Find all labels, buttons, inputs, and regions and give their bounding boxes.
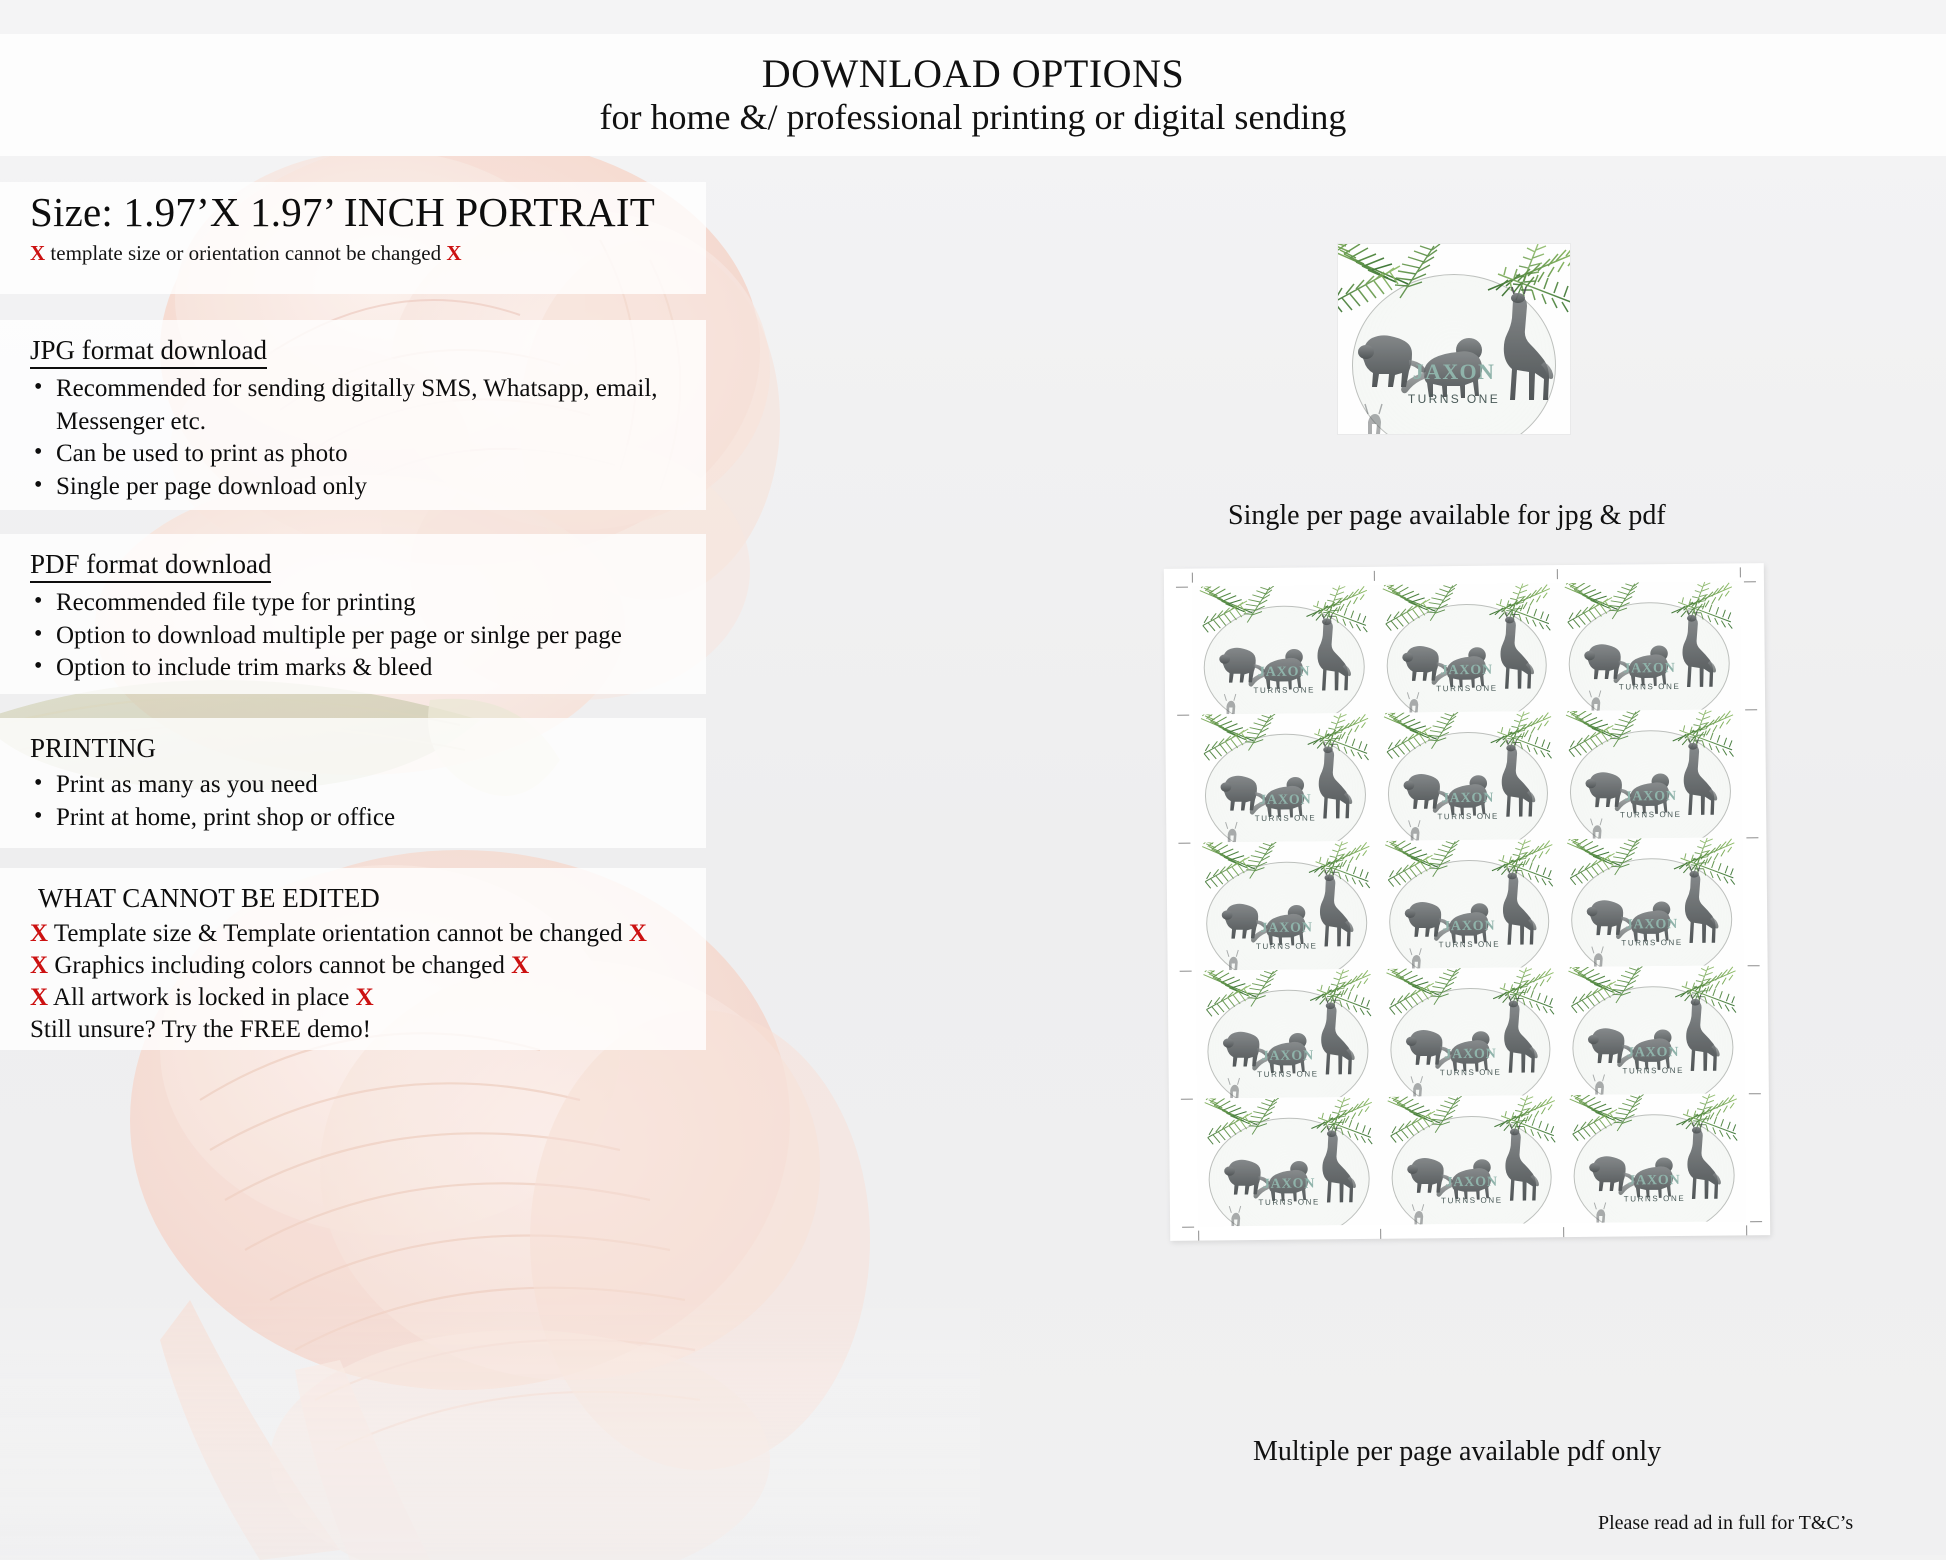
x-mark-icon: X	[356, 984, 374, 1011]
sticker-artwork: JAXON TURNS ONE	[1338, 244, 1570, 434]
x-mark-icon: X	[446, 241, 461, 265]
sticker-cell: JAXON TURNS ONE	[1560, 837, 1744, 967]
sticker-subtitle: TURNS ONE	[1198, 1197, 1381, 1208]
sticker-artwork: JAXON TURNS ONE	[1377, 839, 1561, 969]
sticker-artwork: JAXON TURNS ONE	[1192, 585, 1376, 715]
locked-line: X All artwork is locked in place X	[30, 982, 676, 1014]
x-mark-icon: X	[30, 241, 45, 265]
sticker-artwork: JAXON TURNS ONE	[1557, 581, 1741, 711]
size-note: X template size or orientation cannot be…	[30, 241, 676, 266]
sticker-artwork: JAXON TURNS ONE	[1559, 709, 1743, 839]
sticker-name: JAXON	[1378, 918, 1561, 936]
sticker-subtitle: TURNS ONE	[1561, 937, 1744, 948]
sticker-name: JAXON	[1558, 660, 1741, 678]
trim-mark	[1748, 965, 1760, 966]
trim-mark	[1563, 1227, 1564, 1237]
pdf-section-title: PDF format download	[30, 548, 271, 583]
sticker-cell: JAXON TURNS ONE	[1192, 585, 1376, 715]
sticker-subtitle: TURNS ONE	[1378, 939, 1561, 950]
sticker-name: JAXON	[1193, 664, 1376, 682]
list-item: Print at home, print shop or office	[30, 802, 676, 835]
x-mark-icon: X	[30, 920, 48, 947]
sticker-subtitle: TURNS ONE	[1194, 813, 1377, 824]
printing-section-title: PRINTING	[30, 732, 156, 765]
sticker-cell: JAXON TURNS ONE	[1376, 711, 1560, 841]
sticker-name: JAXON	[1196, 1048, 1379, 1066]
list-item: Print as many as you need	[30, 769, 676, 802]
sticker-illustration	[1338, 244, 1570, 434]
x-mark-icon: X	[511, 952, 529, 979]
trim-mark	[1380, 1229, 1381, 1239]
printing-bullet-list: Print as many as you need Print at home,…	[30, 769, 676, 834]
multiple-per-page-sheet: JAXON TURNS ONE	[1164, 563, 1770, 1241]
trim-mark	[1374, 571, 1375, 581]
locked-line: X Template size & Template orientation c…	[30, 918, 676, 950]
locked-footer: Still unsure? Try the FREE demo!	[30, 1014, 676, 1046]
trim-mark	[1198, 1231, 1199, 1241]
sticker-artwork: JAXON TURNS ONE	[1562, 1093, 1746, 1223]
sticker-name: JAXON	[1194, 792, 1377, 810]
sticker-name: JAXON	[1560, 916, 1743, 934]
list-item: Recommended for sending digitally SMS, W…	[30, 373, 676, 406]
trim-mark	[1191, 573, 1192, 583]
multiple-preview-caption: Multiple per page available pdf only	[1253, 1436, 1661, 1468]
trim-mark	[1739, 567, 1740, 577]
sticker-name: JAXON	[1379, 1046, 1562, 1064]
sticker-artwork: JAXON TURNS ONE	[1378, 967, 1562, 1097]
page-canvas: DOWNLOAD OPTIONS for home &/ professiona…	[0, 0, 1946, 1555]
page-header: DOWNLOAD OPTIONS for home &/ professiona…	[0, 34, 1946, 156]
jpg-format-panel: JPG format download Recommended for send…	[0, 320, 706, 510]
single-preview-caption: Single per page available for jpg & pdf	[1228, 500, 1666, 532]
sticker-cell: JAXON TURNS ONE	[1196, 969, 1380, 1099]
page-title: DOWNLOAD OPTIONS	[762, 52, 1184, 95]
sticker-name: JAXON	[1377, 790, 1560, 808]
list-item: Messenger etc.	[30, 406, 676, 439]
sticker-artwork: JAXON TURNS ONE	[1193, 713, 1377, 843]
list-item: Can be used to print as photo	[30, 438, 676, 471]
sticker-subtitle: TURNS ONE	[1562, 1065, 1745, 1076]
x-mark-icon: X	[30, 952, 48, 979]
sticker-subtitle: TURNS ONE	[1563, 1193, 1746, 1204]
sticker-subtitle: TURNS ONE	[1559, 809, 1742, 820]
size-panel: Size: 1.97’X 1.97’ INCH PORTRAIT X templ…	[0, 182, 706, 294]
list-item: Option to include trim marks & bleed	[30, 652, 676, 685]
sticker-artwork: JAXON TURNS ONE	[1376, 711, 1560, 841]
sticker-artwork: JAXON TURNS ONE	[1194, 841, 1378, 971]
sticker-cell: JAXON TURNS ONE	[1380, 1095, 1564, 1225]
trim-mark	[1746, 1225, 1747, 1235]
trim-mark	[1745, 709, 1757, 710]
sticker-subtitle: TURNS ONE	[1558, 681, 1741, 692]
sticker-cell: JAXON TURNS ONE	[1194, 841, 1378, 971]
single-sticker-preview: JAXON TURNS ONE	[1338, 244, 1570, 434]
sticker-subtitle: TURNS ONE	[1197, 1069, 1380, 1080]
sticker-artwork: JAXON TURNS ONE	[1375, 583, 1559, 713]
sticker-cell: JAXON TURNS ONE	[1557, 581, 1741, 711]
page-subtitle: for home &/ professional printing or dig…	[600, 97, 1347, 138]
list-item: Recommended file type for printing	[30, 587, 676, 620]
locked-section-title: WHAT CANNOT BE EDITED	[30, 882, 676, 916]
list-item: Single per page download only	[30, 471, 676, 504]
sticker-subtitle: TURNS ONE	[1380, 1195, 1563, 1206]
cannot-be-edited-panel: WHAT CANNOT BE EDITED X Template size & …	[0, 868, 706, 1050]
sticker-cell: JAXON TURNS ONE	[1562, 1093, 1746, 1223]
sticker-subtitle: TURNS ONE	[1379, 1067, 1562, 1078]
trim-mark	[1750, 1221, 1762, 1222]
sticker-cell: JAXON TURNS ONE	[1561, 965, 1745, 1095]
sticker-cell: JAXON TURNS ONE	[1193, 713, 1377, 843]
sticker-name: JAXON	[1380, 1174, 1563, 1192]
pdf-bullet-list: Recommended file type for printing Optio…	[30, 587, 676, 685]
sticker-name: JAXON	[1559, 788, 1742, 806]
sticker-subtitle: TURNS ONE	[1338, 392, 1570, 406]
sticker-subtitle: TURNS ONE	[1376, 683, 1559, 694]
trim-mark	[1178, 842, 1190, 843]
sticker-subtitle: TURNS ONE	[1193, 685, 1376, 696]
locked-line: X Graphics including colors cannot be ch…	[30, 950, 676, 982]
sticker-cell: JAXON TURNS ONE	[1197, 1097, 1381, 1227]
trim-mark	[1557, 569, 1558, 579]
trim-mark	[1180, 970, 1192, 971]
printing-panel: PRINTING Print as many as you need Print…	[0, 718, 706, 848]
sticker-artwork: JAXON TURNS ONE	[1561, 965, 1745, 1095]
sticker-grid: JAXON TURNS ONE	[1192, 581, 1746, 1226]
trim-mark	[1744, 581, 1756, 582]
sticker-cell: JAXON TURNS ONE	[1375, 583, 1559, 713]
x-mark-icon: X	[30, 984, 48, 1011]
size-note-text: template size or orientation cannot be c…	[45, 241, 446, 265]
trim-mark	[1177, 714, 1189, 715]
sticker-subtitle: TURNS ONE	[1195, 941, 1378, 952]
sticker-subtitle: TURNS ONE	[1377, 811, 1560, 822]
sticker-artwork: JAXON TURNS ONE	[1196, 969, 1380, 1099]
sticker-cell: JAXON TURNS ONE	[1378, 967, 1562, 1097]
jpg-section-title: JPG format download	[30, 334, 267, 369]
pdf-format-panel: PDF format download Recommended file typ…	[0, 534, 706, 694]
size-title: Size: 1.97’X 1.97’ INCH PORTRAIT	[30, 192, 676, 234]
terms-note: Please read ad in full for T&C’s	[1598, 1512, 1853, 1535]
trim-mark	[1181, 1098, 1193, 1099]
trim-mark	[1182, 1226, 1194, 1227]
locked-line-text: All artwork is locked in place	[53, 984, 349, 1011]
sticker-artwork: JAXON TURNS ONE	[1380, 1095, 1564, 1225]
sticker-name: JAXON	[1195, 920, 1378, 938]
list-item: Option to download multiple per page or …	[30, 620, 676, 653]
jpg-bullet-list: Recommended for sending digitally SMS, W…	[30, 373, 676, 503]
sticker-name: JAXON	[1563, 1172, 1746, 1190]
sticker-name: JAXON	[1562, 1044, 1745, 1062]
sticker-cell: JAXON TURNS ONE	[1377, 839, 1561, 969]
trim-mark	[1746, 837, 1758, 838]
trim-mark	[1749, 1093, 1761, 1094]
x-mark-icon: X	[629, 920, 647, 947]
sticker-name: JAXON	[1198, 1176, 1381, 1194]
sticker-name: JAXON	[1338, 359, 1570, 385]
sticker-cell: JAXON TURNS ONE	[1559, 709, 1743, 839]
sticker-artwork: JAXON TURNS ONE	[1560, 837, 1744, 967]
locked-line-text: Graphics including colors cannot be chan…	[54, 952, 505, 979]
trim-mark	[1176, 586, 1188, 587]
sticker-name: JAXON	[1375, 662, 1558, 680]
locked-line-text: Template size & Template orientation can…	[54, 920, 623, 947]
sticker-artwork: JAXON TURNS ONE	[1197, 1097, 1381, 1227]
